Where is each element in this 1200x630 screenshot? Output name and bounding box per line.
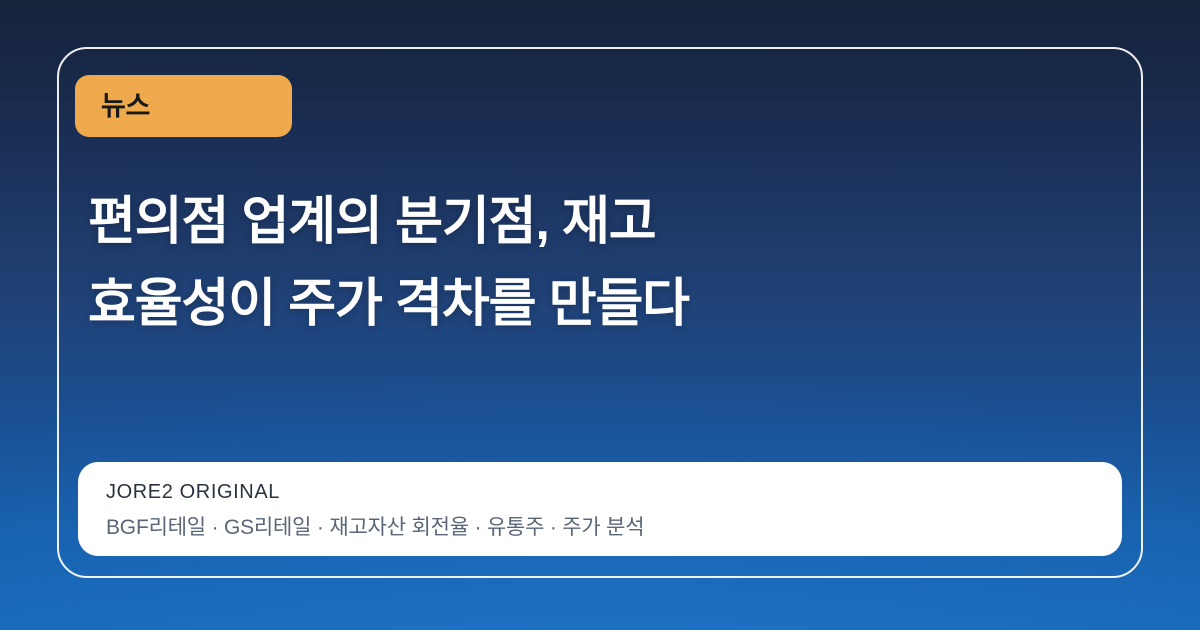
headline-line-1: 편의점 업계의 분기점, 재고 xyxy=(88,181,988,263)
og-card-canvas: 뉴스 편의점 업계의 분기점, 재고 효율성이 주가 격차를 만들다 JORE2… xyxy=(0,0,1200,630)
category-badge: 뉴스 xyxy=(75,75,292,137)
category-badge-label: 뉴스 xyxy=(101,93,150,120)
headline: 편의점 업계의 분기점, 재고 효율성이 주가 격차를 만들다 xyxy=(88,181,988,345)
tag-list: BGF리테일 · GS리테일 · 재고자산 회전율 · 유통주 · 주가 분석 xyxy=(106,515,1094,541)
headline-line-2: 효율성이 주가 격차를 만들다 xyxy=(88,263,988,345)
footer-info-card: JORE2 ORIGINAL BGF리테일 · GS리테일 · 재고자산 회전율… xyxy=(78,462,1122,556)
brand-label: JORE2 ORIGINAL xyxy=(106,480,1094,504)
